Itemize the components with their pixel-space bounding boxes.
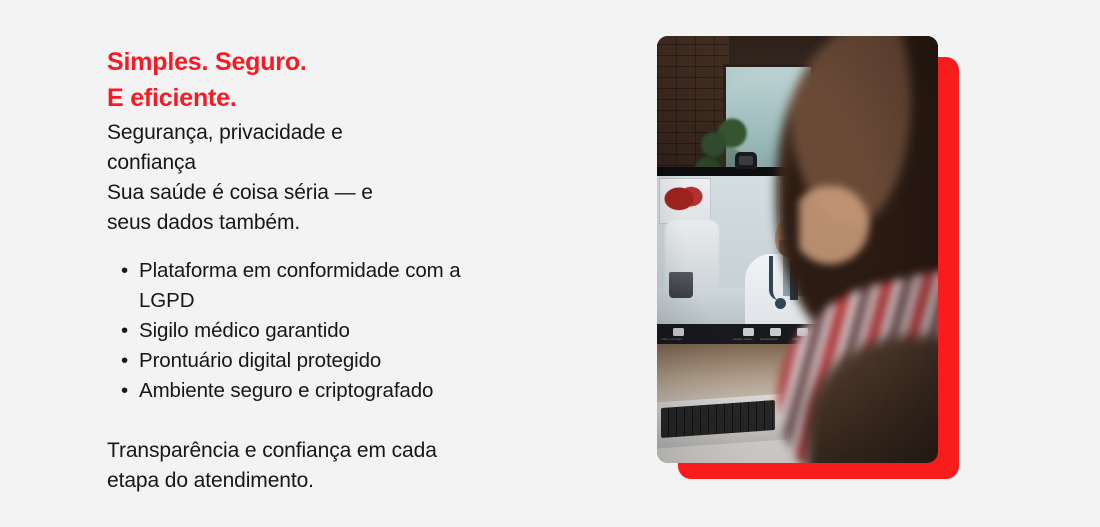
participants-icon xyxy=(770,328,781,336)
bullet-icon: • xyxy=(121,346,128,376)
pen-cup xyxy=(669,272,693,298)
camera-icon xyxy=(673,328,684,336)
list-item: • Plataforma em conformidade com a LGPD xyxy=(107,256,577,316)
headline-line-1: Simples. Seguro. xyxy=(107,44,577,80)
list-item-line-1: Sigilo médico garantido xyxy=(139,316,577,346)
feature-list: • Plataforma em conformidade com a LGPD … xyxy=(107,256,577,406)
list-item-line-1: Plataforma em conformidade com a xyxy=(139,256,577,286)
bullet-icon: • xyxy=(121,376,128,406)
screen-share-icon xyxy=(743,328,754,336)
heart-anatomy-poster xyxy=(659,178,711,224)
intro-paragraph: Segurança, privacidade e confiança Sua s… xyxy=(107,118,577,238)
list-item-line-1: Ambiente seguro e criptografado xyxy=(139,376,577,406)
webcam-lens-icon xyxy=(739,156,753,165)
headline-line-2: E eficiente. xyxy=(107,80,577,116)
closing-paragraph: Transparência e confiança em cada etapa … xyxy=(107,436,577,496)
closing-line-2: etapa do atendimento. xyxy=(107,466,577,496)
stethoscope-bell-icon xyxy=(775,298,786,309)
list-item: • Prontuário digital protegido xyxy=(107,346,577,376)
visual-block: video settings screen share participants… xyxy=(657,36,959,479)
list-item-line-2: LGPD xyxy=(139,286,577,316)
text-column: Simples. Seguro. E eficiente. Segurança,… xyxy=(107,44,577,496)
list-item: • Ambiente seguro e criptografado xyxy=(107,376,577,406)
list-item-line-1: Prontuário digital protegido xyxy=(139,346,577,376)
toolbar-label-video-settings: video settings xyxy=(661,337,682,341)
intro-line-3: Sua saúde é coisa séria — e xyxy=(107,178,577,208)
intro-line-2: confiança xyxy=(107,148,577,178)
patient-hand xyxy=(799,186,877,272)
list-item: • Sigilo médico garantido xyxy=(107,316,577,346)
toolbar-label-participants: participants xyxy=(760,337,778,341)
bullet-icon: • xyxy=(121,316,128,346)
closing-line-1: Transparência e confiança em cada xyxy=(107,436,577,466)
telemedicine-photo: video settings screen share participants… xyxy=(657,36,938,463)
intro-line-1: Segurança, privacidade e xyxy=(107,118,577,148)
page-title: Simples. Seguro. E eficiente. xyxy=(107,44,577,116)
stethoscope-left xyxy=(769,256,779,300)
intro-line-4: seus dados também. xyxy=(107,208,577,238)
slide-canvas: Simples. Seguro. E eficiente. Segurança,… xyxy=(0,0,1100,527)
toolbar-label-screen-share: screen share xyxy=(733,337,753,341)
bullet-icon: • xyxy=(121,256,128,286)
